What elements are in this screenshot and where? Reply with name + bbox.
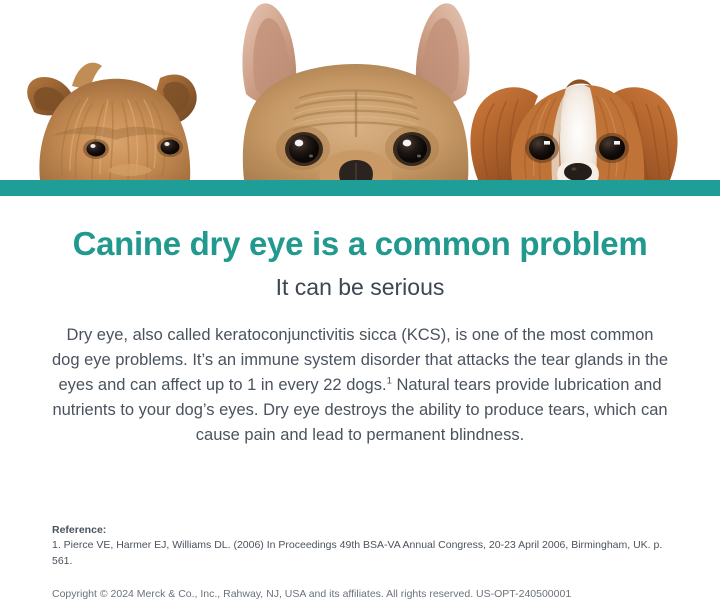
body-paragraph: Dry eye, also called keratoconjunctiviti…	[0, 301, 720, 448]
dog-cavalier-king-charles-spaniel	[470, 79, 677, 180]
footer: Reference: 1. Pierce VE, Harmer EJ, Will…	[0, 523, 720, 611]
content-area: Canine dry eye is a common problem It ca…	[0, 196, 720, 611]
teal-divider-bar	[0, 180, 720, 196]
dog-yorkshire-terrier	[27, 63, 196, 180]
copyright-text: Copyright © 2024 Merck & Co., Inc., Rahw…	[52, 569, 672, 603]
three-dogs-photo	[0, 0, 720, 180]
page-root: Canine dry eye is a common problem It ca…	[0, 0, 720, 611]
page-title: Canine dry eye is a common problem	[0, 196, 720, 262]
hero-banner	[0, 0, 720, 180]
page-subtitle: It can be serious	[0, 262, 720, 300]
reference-text: 1. Pierce VE, Harmer EJ, Williams DL. (2…	[52, 538, 672, 570]
reference-label: Reference:	[52, 523, 672, 538]
